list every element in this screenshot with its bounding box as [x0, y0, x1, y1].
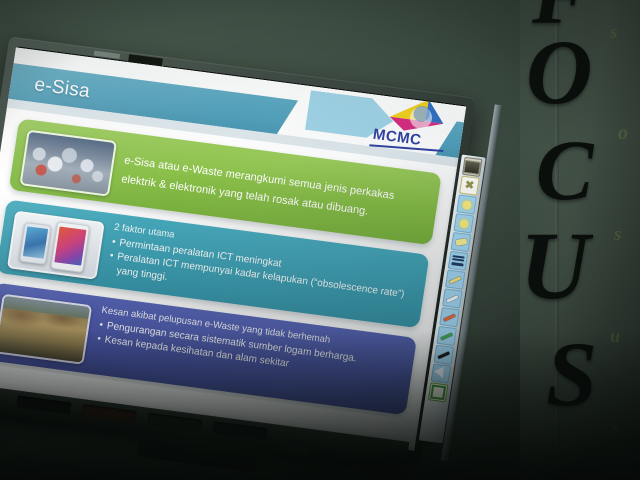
room-shadow	[0, 330, 640, 480]
wall-small-letter-2: o	[618, 122, 628, 145]
classroom-scene: F O C U S s o s u s e-Sisa	[0, 0, 640, 480]
thumbnail-e-waste-pile	[19, 130, 117, 197]
thumbnail-smartphones	[7, 211, 105, 280]
phone-white-icon	[19, 221, 53, 265]
pen-red-icon[interactable]	[439, 307, 460, 327]
pen-yellow-icon[interactable]	[445, 270, 466, 290]
close-icon[interactable]: ✖	[459, 176, 480, 196]
highlighter-light-icon[interactable]	[456, 194, 477, 214]
wall-letter-o: O	[526, 36, 592, 110]
smartphones-photo	[9, 213, 102, 278]
wall-small-letter-3: s	[614, 224, 621, 246]
wall-letter-u: U	[520, 228, 589, 305]
wall-small-letter-1: s	[610, 22, 617, 44]
line-width-icon[interactable]	[448, 251, 469, 271]
e-waste-pile-photo	[22, 132, 115, 195]
phone-colour-icon	[51, 221, 91, 272]
highlighter-icon[interactable]	[453, 213, 474, 233]
box-green-text: e-Sisa atau e-Waste merangkumi semua jen…	[120, 151, 427, 228]
board-select-icon[interactable]	[462, 157, 483, 177]
pen-white-icon[interactable]	[442, 288, 463, 308]
wall-letter-c: C	[536, 136, 593, 205]
eraser-icon[interactable]	[451, 232, 472, 252]
